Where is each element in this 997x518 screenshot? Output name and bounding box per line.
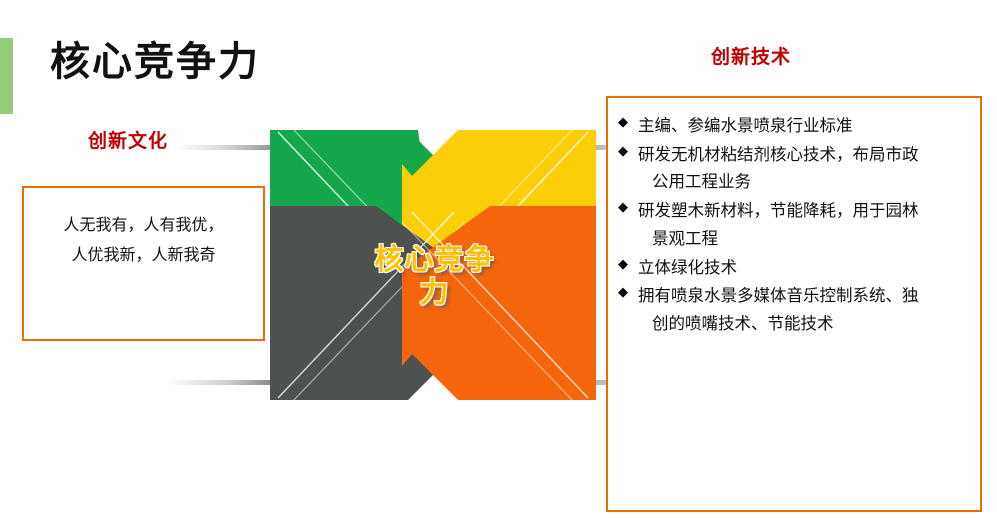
diamond-bullet-icon: ◆: [618, 197, 628, 220]
bullet-text: 研发无机材粘结剂核心技术，布局市政: [638, 141, 968, 169]
bullet-text-continuation: 公用工程业务: [638, 168, 968, 196]
section-label-culture: 创新文化: [88, 126, 168, 153]
bullet-item: ◆研发无机材粘结剂核心技术，布局市政公用工程业务: [618, 141, 968, 196]
culture-line-1: 人无我有，人有我优，: [38, 210, 249, 240]
technology-box: ◆主编、参编水景喷泉行业标准◆研发无机材粘结剂核心技术，布局市政公用工程业务◆研…: [606, 96, 982, 512]
diamond-bullet-icon: ◆: [618, 141, 628, 164]
diamond-bullet-icon: ◆: [618, 112, 628, 135]
slide-canvas: 核心竞争力 创新文化 创新技术: [0, 0, 997, 518]
culture-box: 人无我有，人有我优， 人优我新，人新我奇: [22, 186, 265, 341]
converging-arrows-graphic: [258, 112, 608, 412]
diamond-bullet-icon: ◆: [618, 282, 628, 305]
bullet-item: ◆主编、参编水景喷泉行业标准: [618, 112, 968, 140]
culture-line-2: 人优我新，人新我奇: [38, 240, 249, 270]
bullet-text: 主编、参编水景喷泉行业标准: [638, 112, 968, 140]
bullet-text: 拥有喷泉水景多媒体音乐控制系统、独: [638, 282, 968, 310]
bullet-text-continuation: 景观工程: [638, 225, 968, 253]
technology-bullet-list: ◆主编、参编水景喷泉行业标准◆研发无机材粘结剂核心技术，布局市政公用工程业务◆研…: [608, 98, 980, 338]
bullet-item: ◆立体绿化技术: [618, 254, 968, 282]
diamond-bullet-icon: ◆: [618, 254, 628, 277]
page-title: 核心竞争力: [50, 40, 260, 84]
bullet-text-continuation: 创的喷嘴技术、节能技术: [638, 310, 968, 338]
accent-bar: [0, 38, 13, 114]
bullet-text: 研发塑木新材料，节能降耗，用于园林: [638, 197, 968, 225]
culture-text: 人无我有，人有我优， 人优我新，人新我奇: [24, 210, 263, 269]
bullet-item: ◆拥有喷泉水景多媒体音乐控制系统、独创的喷嘴技术、节能技术: [618, 282, 968, 337]
bullet-item: ◆研发塑木新材料，节能降耗，用于园林景观工程: [618, 197, 968, 252]
bullet-text: 立体绿化技术: [638, 254, 968, 282]
section-label-technology: 创新技术: [711, 42, 791, 69]
